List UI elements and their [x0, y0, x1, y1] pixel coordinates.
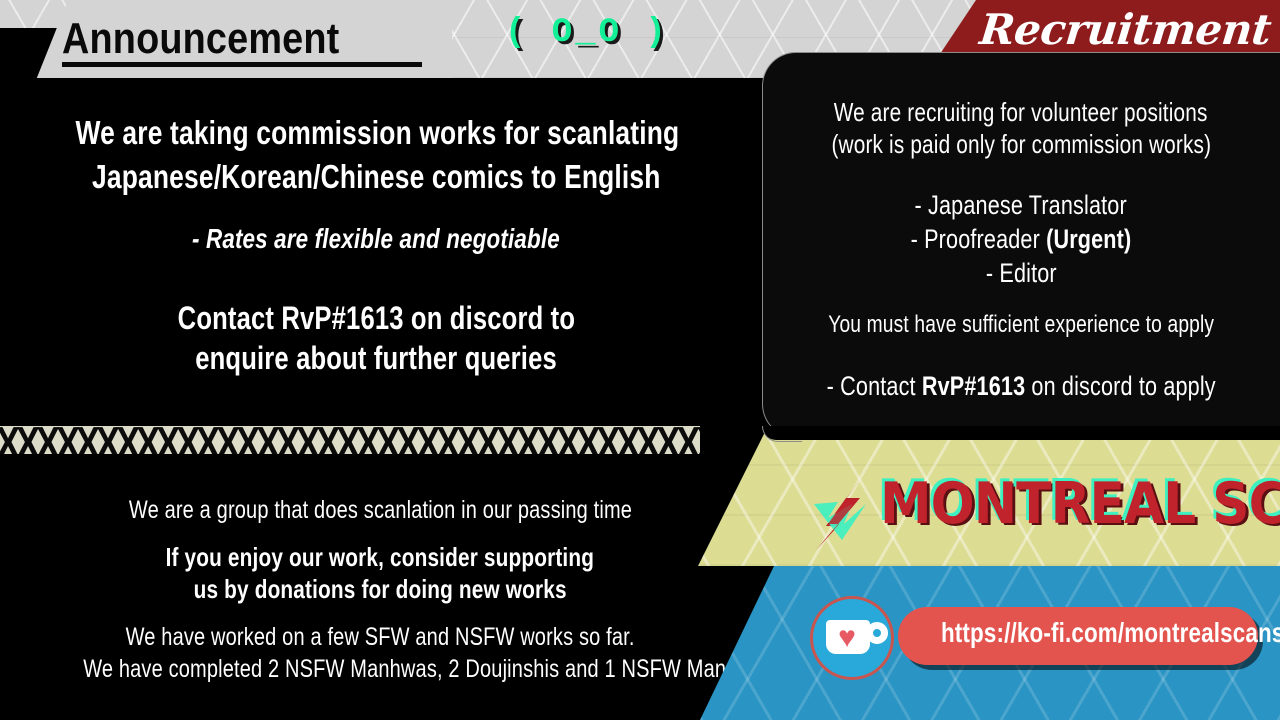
role-editor: - Editor: [763, 258, 1279, 289]
about-section: We are a group that does scanlation in o…: [0, 454, 780, 720]
works-line-1: We have worked on a few SFW and NSFW wor…: [0, 623, 760, 652]
heart-icon: ♥: [832, 626, 862, 652]
apply-contact-line: - Contact RvP#1613 on discord to apply: [763, 371, 1279, 402]
role-japanese-translator: - Japanese Translator: [763, 190, 1279, 221]
emoticon-face: ( O_O ): [505, 14, 669, 52]
recruitment-panel: We are recruiting for volunteer position…: [762, 52, 1280, 438]
commission-line-1: We are taking commission works for scanl…: [0, 114, 752, 152]
lightning-bolt-icon: [808, 468, 874, 552]
role-proofreader: - Proofreader (Urgent): [763, 224, 1279, 255]
contact-line-2: enquire about further queries: [0, 340, 752, 377]
brand-panel-top-cutout: [762, 426, 1280, 440]
recruit-intro-line-1: We are recruiting for volunteer position…: [763, 97, 1279, 128]
announcement-title-text: Announcement: [62, 14, 339, 64]
support-line-2: us by donations for doing new works: [0, 574, 760, 605]
recruit-intro-line-2: (work is paid only for commission works): [763, 129, 1279, 160]
works-line-2: We have completed 2 NSFW Manhwas, 2 Douj…: [0, 655, 760, 684]
recruitment-title: Recruitment: [977, 5, 1262, 54]
poster-canvas: Announcement ( O_O ) Recruitment We are …: [0, 0, 1280, 720]
announcement-body: We are taking commission works for scanl…: [0, 78, 752, 428]
apply-suffix: on discord to apply: [1025, 371, 1216, 401]
experience-note: You must have sufficient experience to a…: [763, 311, 1279, 339]
about-line-1: We are a group that does scanlation in o…: [0, 496, 760, 525]
support-line-1: If you enjoy our work, consider supporti…: [0, 542, 760, 573]
zigzag-divider: XXXXXXXXXXXXXXXXXXXXXXXXXXXXXXXXXXXXXXXX…: [0, 426, 700, 454]
discord-handle: RvP#1613: [281, 300, 403, 336]
rates-note: - Rates are flexible and negotiable: [0, 223, 752, 255]
apply-discord-handle: RvP#1613: [922, 371, 1025, 401]
contact-suffix: on discord to: [403, 300, 574, 336]
kofi-cup-handle: [866, 622, 888, 644]
brand-wordmark: MONTREAL SCANS: [880, 470, 1254, 553]
announcement-title: Announcement: [62, 14, 442, 62]
announcement-title-underline: [62, 62, 422, 67]
urgent-badge: (Urgent): [1046, 224, 1131, 254]
contact-prefix: Contact: [177, 300, 281, 336]
zigzag-pattern: XXXXXXXXXXXXXXXXXXXXXXXXXXXXXXXXXXXXXXXX…: [0, 426, 700, 454]
apply-prefix: - Contact: [826, 371, 921, 401]
contact-line-1: Contact RvP#1613 on discord to: [0, 300, 752, 337]
role-proofreader-label: - Proofreader: [911, 224, 1047, 254]
kofi-url-text[interactable]: https://ko-fi.com/montrealscans: [898, 617, 1258, 649]
commission-line-2: Japanese/Korean/Chinese comics to Englis…: [0, 158, 752, 196]
